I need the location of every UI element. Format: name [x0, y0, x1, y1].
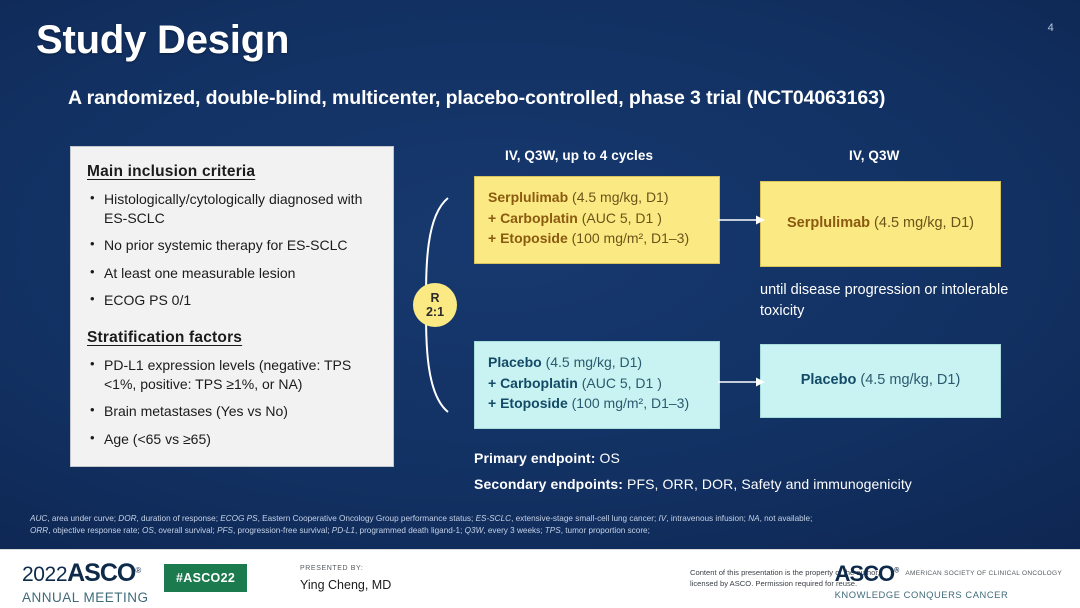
abbr-term: ES-SCLC [476, 514, 512, 523]
list-item: At least one measurable lesion [87, 264, 379, 283]
page-title: Study Design [36, 18, 289, 63]
abbr-def: , every 3 weeks; [483, 526, 544, 535]
registered-mark-icon: ® [894, 568, 898, 575]
drug-dose: (AUC 5, D1 ) [582, 375, 662, 391]
regimen-line: Placebo (4.5 mg/kg, D1) [801, 370, 961, 391]
drug-name: Placebo [801, 372, 857, 388]
abbr-term: NA [748, 514, 759, 523]
page-subtitle: A randomized, double-blind, multicenter,… [68, 87, 885, 110]
abbr-term: Q3W [465, 526, 484, 535]
drug-name: Placebo [488, 354, 542, 370]
randomization-ratio: 2:1 [426, 305, 444, 319]
arrow-right-icon [718, 374, 766, 390]
list-item: No prior systemic therapy for ES-SCLC [87, 236, 379, 255]
regimen-line: + Etoposide (100 mg/m², D1–3) [488, 393, 706, 414]
stratification-factors-heading: Stratification factors [87, 329, 379, 347]
primary-endpoint-value: OS [600, 450, 620, 466]
abbr-def: , overall survival; [154, 526, 217, 535]
logo-society-text: AMERICAN SOCIETY OF CLINICAL ONCOLOGY [905, 570, 1062, 579]
drug-name: + Etoposide [488, 395, 568, 411]
logo-meeting-text: ANNUAL MEETING [22, 591, 149, 605]
regimen-line: Serplulimab (4.5 mg/kg, D1) [488, 187, 706, 208]
abbr-term: PD-L1 [332, 526, 355, 535]
list-item: Brain metastases (Yes vs No) [87, 402, 379, 421]
abbr-def: , Eastern Cooperative Oncology Group per… [258, 514, 476, 523]
abbreviations-footnote: AUC, area under curve; DOR, duration of … [30, 513, 1050, 538]
regimen-line: Serplulimab (4.5 mg/kg, D1) [787, 213, 974, 234]
maintenance-experimental-arm-box: Serplulimab (4.5 mg/kg, D1) [760, 181, 1001, 267]
drug-dose: (4.5 mg/kg, D1) [572, 189, 668, 205]
footnote-line: ORR, objective response rate; OS, overal… [30, 525, 1050, 537]
abbr-def: , duration of response; [137, 514, 221, 523]
secondary-endpoint-value: PFS, ORR, DOR, Safety and immunogenicity [627, 476, 912, 492]
hashtag-badge[interactable]: #ASCO22 [164, 564, 247, 592]
abbr-term: OS [142, 526, 154, 535]
treatment-duration-note: until disease progression or intolerable… [760, 280, 1010, 321]
footnote-line: AUC, area under curve; DOR, duration of … [30, 513, 1050, 525]
drug-dose: (4.5 mg/kg, D1) [546, 354, 642, 370]
drug-name: Serplulimab [488, 189, 568, 205]
secondary-endpoint: Secondary endpoints: PFS, ORR, DOR, Safe… [474, 476, 912, 492]
criteria-panel: Main inclusion criteria Histologically/c… [70, 146, 394, 467]
presenter-name: Ying Cheng, MD [300, 577, 391, 593]
abbr-def: , area under curve; [47, 514, 118, 523]
drug-dose: (AUC 5, D1 ) [582, 210, 662, 226]
regimen-line: + Etoposide (100 mg/m², D1–3) [488, 228, 706, 249]
abbr-term: ORR [30, 526, 48, 535]
primary-endpoint-label: Primary endpoint: [474, 450, 596, 466]
primary-endpoint: Primary endpoint: OS [474, 450, 912, 466]
abbr-def: , not available; [760, 514, 813, 523]
induction-control-arm-box: Placebo (4.5 mg/kg, D1) + Carboplatin (A… [474, 341, 720, 429]
list-item: Histologically/cytologically diagnosed w… [87, 190, 379, 227]
regimen-line: + Carboplatin (AUC 5, D1 ) [488, 208, 706, 229]
drug-dose: (100 mg/m², D1–3) [572, 395, 689, 411]
presented-by-label: PRESENTED BY: [300, 564, 391, 573]
abbr-term: AUC [30, 514, 47, 523]
abbr-term: PFS [217, 526, 233, 535]
abbr-def: , intravenous infusion; [666, 514, 748, 523]
induction-experimental-arm-box: Serplulimab (4.5 mg/kg, D1) + Carboplati… [474, 176, 720, 264]
asco-annual-meeting-logo: 2022ASCO® ANNUAL MEETING [22, 561, 149, 605]
slide-number: 4 [1048, 22, 1054, 34]
logo-brand: ASCO [67, 559, 135, 587]
abbr-def: , progression-free survival; [233, 526, 332, 535]
induction-column-header: IV, Q3W, up to 4 cycles [505, 148, 653, 163]
list-item: ECOG PS 0/1 [87, 291, 379, 310]
abbr-term: ECOG PS [220, 514, 257, 523]
randomization-node: R 2:1 [413, 283, 457, 327]
logo-line-top: 2022ASCO® [22, 561, 149, 586]
abbr-def: , extensive-stage small-cell lung cancer… [511, 514, 658, 523]
drug-name: + Carboplatin [488, 375, 578, 391]
drug-dose: (100 mg/m², D1–3) [572, 230, 689, 246]
logo-tagline: KNOWLEDGE CONQUERS CANCER [835, 589, 1062, 600]
stratification-factors-list: PD-L1 expression levels (negative: TPS <… [87, 356, 379, 448]
abbr-def: , tumor proportion score; [561, 526, 650, 535]
regimen-line: + Carboplatin (AUC 5, D1 ) [488, 373, 706, 394]
abbr-def: , programmed death ligand-1; [355, 526, 465, 535]
drug-name: + Carboplatin [488, 210, 578, 226]
regimen-line: Placebo (4.5 mg/kg, D1) [488, 352, 706, 373]
abbr-def: , objective response rate; [48, 526, 142, 535]
slide-study-design: 4 Study Design A randomized, double-blin… [0, 0, 1080, 608]
arrow-right-icon [718, 212, 766, 228]
abbr-term: TPS [545, 526, 561, 535]
inclusion-criteria-list: Histologically/cytologically diagnosed w… [87, 190, 379, 310]
inclusion-criteria-heading: Main inclusion criteria [87, 163, 379, 181]
list-item: Age (<65 vs ≥65) [87, 430, 379, 449]
maintenance-control-arm-box: Placebo (4.5 mg/kg, D1) [760, 344, 1001, 418]
abbr-term: DOR [118, 514, 136, 523]
list-item: PD-L1 expression levels (negative: TPS <… [87, 356, 379, 393]
secondary-endpoint-label: Secondary endpoints: [474, 476, 623, 492]
drug-dose: (4.5 mg/kg, D1) [874, 215, 974, 231]
logo-wordmark: ASCO® [835, 563, 899, 585]
presenter-block: PRESENTED BY: Ying Cheng, MD [300, 564, 391, 593]
endpoints-section: Primary endpoint: OS Secondary endpoints… [474, 450, 912, 502]
slide-footer: 2022ASCO® ANNUAL MEETING #ASCO22 PRESENT… [0, 549, 1080, 608]
drug-name: + Etoposide [488, 230, 568, 246]
drug-name: Serplulimab [787, 215, 870, 231]
registered-mark-icon: ® [135, 566, 141, 575]
logo-mark-text: ASCO [835, 561, 895, 586]
maintenance-column-header: IV, Q3W [849, 148, 899, 163]
drug-dose: (4.5 mg/kg, D1) [860, 372, 960, 388]
logo-row: ASCO® AMERICAN SOCIETY OF CLINICAL ONCOL… [835, 563, 1062, 585]
asco-society-logo: ASCO® AMERICAN SOCIETY OF CLINICAL ONCOL… [835, 563, 1062, 600]
randomization-label: R [430, 291, 439, 305]
logo-year: 2022 [22, 563, 67, 586]
